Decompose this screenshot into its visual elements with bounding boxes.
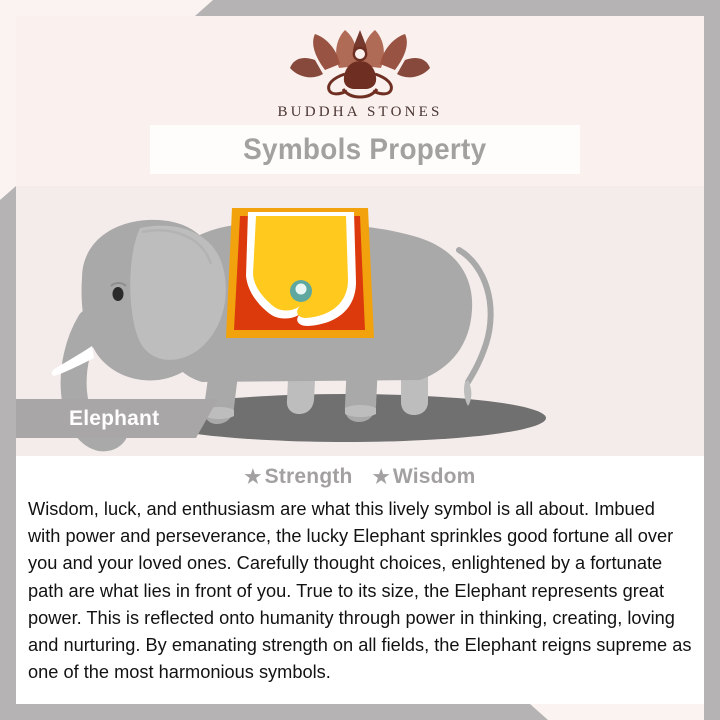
trait-strength-label: Strength [265,465,353,488]
description-text: Wisdom, luck, and enthusiasm are what th… [28,495,694,685]
lotus-meditation-icon [285,24,435,102]
description-panel: ★Strength ★Wisdom Wisdom, luck, and enth… [16,456,704,704]
trait-list: ★Strength ★Wisdom [16,456,704,489]
frame-accent-left [0,186,16,720]
brand-name: BUDDHA STONES [277,104,442,121]
trait-wisdom-label: Wisdom [393,465,476,488]
elephant-saddle [226,208,374,338]
trait-strength: ★Strength [244,465,352,488]
header-panel: BUDDHA STONES Symbols Property [16,16,704,186]
frame-accent-bottom [0,704,720,720]
elephant-eye [113,287,124,301]
page-title: Symbols Property [243,133,486,167]
trait-wisdom: ★Wisdom [373,465,476,488]
brand-logo: BUDDHA STONES [16,24,704,121]
symbol-name-label: Elephant [69,407,159,431]
symbol-name-banner: Elephant [0,399,218,438]
star-icon: ★ [244,467,261,488]
page-title-band: Symbols Property [150,125,580,174]
frame-accent-right [704,0,720,720]
frame-accent-top [195,0,720,16]
star-icon: ★ [373,467,390,488]
